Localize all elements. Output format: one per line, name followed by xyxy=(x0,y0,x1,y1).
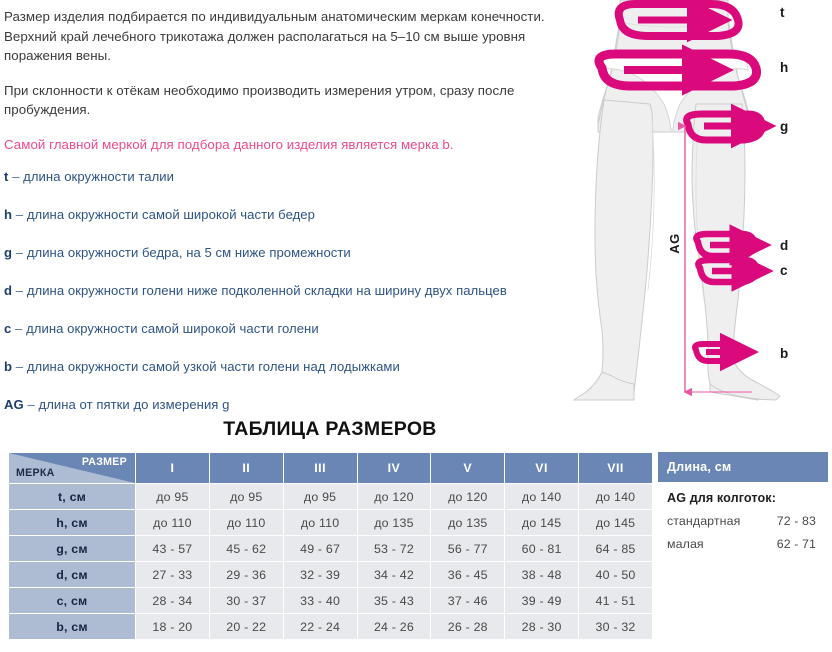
cell-t-6: до 140 xyxy=(505,484,578,509)
band-b xyxy=(695,344,742,361)
legend-item-g: g – длина окружности бедра, на 5 см ниже… xyxy=(4,244,552,262)
legend-text-h: длина окружности самой широкой части бед… xyxy=(27,207,315,222)
legend-dash-ag: – xyxy=(27,397,34,412)
cell-t-3: до 95 xyxy=(284,484,357,509)
cell-g-5: 56 - 77 xyxy=(431,536,504,561)
cell-g-4: 53 - 72 xyxy=(358,536,431,561)
cell-g-7: 64 - 85 xyxy=(579,536,652,561)
cell-c-5: 37 - 46 xyxy=(431,588,504,613)
figure-label-t: t xyxy=(780,5,785,20)
legend-dash-t: – xyxy=(12,169,19,184)
legend-text-t: длина окружности талии xyxy=(23,169,174,184)
cell-h-7: до 145 xyxy=(579,510,652,535)
intro-text-column: Размер изделия подбирается по индивидуал… xyxy=(4,0,552,434)
length-panel-subtitle: AG для колготок: xyxy=(658,482,828,505)
cell-c-4: 35 - 43 xyxy=(358,588,431,613)
intro-paragraph-2: При склонности к отёкам необходимо произ… xyxy=(4,81,552,120)
size-column-header-1: I xyxy=(136,453,209,483)
table-row: g, см 43 - 57 45 - 62 49 - 67 53 - 72 56… xyxy=(9,536,652,561)
legend-key-t: t xyxy=(4,169,8,184)
legend-text-ag: длина от пятки до измерения g xyxy=(39,397,230,412)
legend-text-d: длина окружности голени ниже подколенной… xyxy=(27,283,507,298)
table-row: c, см 28 - 34 30 - 37 33 - 40 35 - 43 37… xyxy=(9,588,652,613)
size-column-header-4: IV xyxy=(358,453,431,483)
table-row: t, см до 95 до 95 до 95 до 120 до 120 до… xyxy=(9,484,652,509)
legend-item-ag: AG – длина от пятки до измерения g xyxy=(4,396,552,414)
cell-c-3: 33 - 40 xyxy=(284,588,357,613)
legend-item-d: d – длина окружности голени ниже подколе… xyxy=(4,282,552,300)
figure-label-ag: AG xyxy=(667,233,682,254)
table-corner-cell: РАЗМЕР МЕРКА xyxy=(9,453,135,483)
size-column-header-2: II xyxy=(210,453,283,483)
legend-item-c: c – длина окружности самой широкой части… xyxy=(4,320,552,338)
cell-d-7: 40 - 50 xyxy=(579,562,652,587)
legend-key-g: g xyxy=(4,245,12,260)
cell-c-6: 39 - 49 xyxy=(505,588,578,613)
length-row-small-value: 62 - 71 xyxy=(777,537,816,551)
figure-label-b: b xyxy=(780,346,788,361)
legend-dash-d: – xyxy=(16,283,23,298)
cell-g-2: 45 - 62 xyxy=(210,536,283,561)
figure-label-d: d xyxy=(780,238,788,253)
cell-b-1: 18 - 20 xyxy=(136,614,209,639)
figure-label-h: h xyxy=(780,60,788,75)
cell-b-5: 26 - 28 xyxy=(431,614,504,639)
cell-g-1: 43 - 57 xyxy=(136,536,209,561)
cell-d-1: 27 - 33 xyxy=(136,562,209,587)
cell-b-7: 30 - 32 xyxy=(579,614,652,639)
legend-key-d: d xyxy=(4,283,12,298)
key-measure-note: Самой главной меркой для подбора данного… xyxy=(4,135,552,154)
size-table: РАЗМЕР МЕРКА I II III IV V VI VII t, см … xyxy=(8,452,653,640)
cell-d-5: 36 - 45 xyxy=(431,562,504,587)
row-label-h: h, см xyxy=(9,510,135,535)
cell-h-5: до 135 xyxy=(431,510,504,535)
cell-h-6: до 145 xyxy=(505,510,578,535)
legend-item-b: b – длина окружности самой узкой части г… xyxy=(4,358,552,376)
measurement-legend-list: t – длина окружности талии h – длина окр… xyxy=(4,168,552,414)
size-table-header-row: РАЗМЕР МЕРКА I II III IV V VI VII xyxy=(9,453,652,483)
cell-h-2: до 110 xyxy=(210,510,283,535)
figure-label-g: g xyxy=(780,119,788,134)
legend-item-h: h – длина окружности самой широкой части… xyxy=(4,206,552,224)
corner-size-label: РАЗМЕР xyxy=(82,456,127,468)
cell-h-3: до 110 xyxy=(284,510,357,535)
length-row-small: малая 62 - 71 xyxy=(658,528,828,551)
legend-item-t: t – длина окружности талии xyxy=(4,168,552,186)
legend-text-g: длина окружности бедра, на 5 см ниже про… xyxy=(27,245,351,260)
row-label-b: b, см xyxy=(9,614,135,639)
cell-b-3: 22 - 24 xyxy=(284,614,357,639)
legend-key-b: b xyxy=(4,359,12,374)
row-label-t: t, см xyxy=(9,484,135,509)
cell-t-2: до 95 xyxy=(210,484,283,509)
cell-t-4: до 120 xyxy=(358,484,431,509)
measurement-diagram: t h g d c b AG xyxy=(552,0,832,405)
cell-b-6: 28 - 30 xyxy=(505,614,578,639)
size-column-header-7: VII xyxy=(579,453,652,483)
legend-dash-g: – xyxy=(16,245,23,260)
size-table-title: ТАБЛИЦА РАЗМЕРОВ xyxy=(0,418,660,441)
length-panel-header: Длина, см xyxy=(658,452,828,482)
cell-b-2: 20 - 22 xyxy=(210,614,283,639)
table-row: h, см до 110 до 110 до 110 до 135 до 135… xyxy=(9,510,652,535)
legend-dash-b: – xyxy=(16,359,23,374)
legend-dash-c: – xyxy=(15,321,22,336)
cell-c-1: 28 - 34 xyxy=(136,588,209,613)
table-row: d, см 27 - 33 29 - 36 32 - 39 34 - 42 36… xyxy=(9,562,652,587)
cell-d-4: 34 - 42 xyxy=(358,562,431,587)
row-label-c: c, см xyxy=(9,588,135,613)
legend-key-ag: AG xyxy=(4,397,24,412)
cell-t-1: до 95 xyxy=(136,484,209,509)
legend-key-c: c xyxy=(4,321,11,336)
cell-c-2: 30 - 37 xyxy=(210,588,283,613)
left-leg xyxy=(580,100,653,400)
cell-t-5: до 120 xyxy=(431,484,504,509)
size-column-header-6: VI xyxy=(505,453,578,483)
figure-label-c: c xyxy=(780,263,788,278)
length-row-standard: стандартная 72 - 83 xyxy=(658,505,828,528)
size-column-header-5: V xyxy=(431,453,504,483)
legend-dash-h: – xyxy=(16,207,23,222)
intro-paragraph-1: Размер изделия подбирается по индивидуал… xyxy=(4,7,552,66)
cell-h-1: до 110 xyxy=(136,510,209,535)
cell-g-6: 60 - 81 xyxy=(505,536,578,561)
length-row-standard-name: стандартная xyxy=(667,514,740,528)
cell-d-2: 29 - 36 xyxy=(210,562,283,587)
cell-t-7: до 140 xyxy=(579,484,652,509)
legend-text-c: длина окружности самой широкой части гол… xyxy=(26,321,319,336)
cell-d-6: 38 - 48 xyxy=(505,562,578,587)
legend-key-h: h xyxy=(4,207,12,222)
row-label-d: d, см xyxy=(9,562,135,587)
table-row: b, см 18 - 20 20 - 22 22 - 24 24 - 26 26… xyxy=(9,614,652,639)
body-figure-svg xyxy=(552,0,832,405)
cell-d-3: 32 - 39 xyxy=(284,562,357,587)
cell-c-7: 41 - 51 xyxy=(579,588,652,613)
legend-text-b: длина окружности самой узкой части голен… xyxy=(27,359,400,374)
length-panel: Длина, см AG для колготок: стандартная 7… xyxy=(658,452,828,551)
size-column-header-3: III xyxy=(284,453,357,483)
row-label-g: g, см xyxy=(9,536,135,561)
cell-b-4: 24 - 26 xyxy=(358,614,431,639)
length-row-standard-value: 72 - 83 xyxy=(777,514,816,528)
corner-measure-label: МЕРКА xyxy=(16,467,55,479)
cell-g-3: 49 - 67 xyxy=(284,536,357,561)
cell-h-4: до 135 xyxy=(358,510,431,535)
length-row-small-name: малая xyxy=(667,537,704,551)
